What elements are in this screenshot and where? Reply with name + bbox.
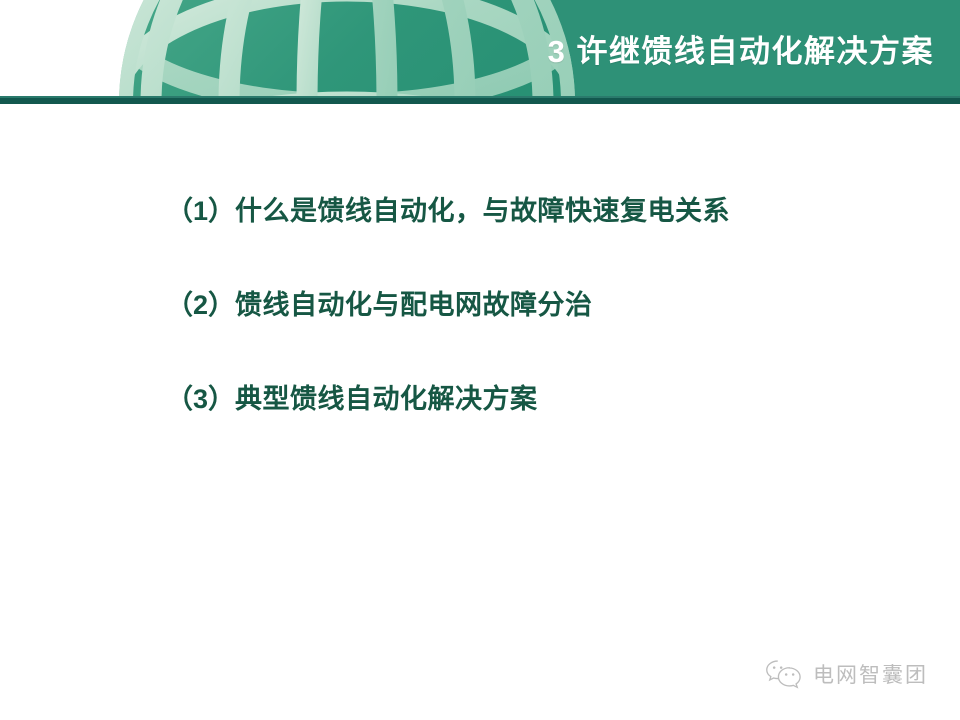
slide-header: 3 许继馈线自动化解决方案 <box>0 0 960 96</box>
agenda-item-label: 典型馈线自动化解决方案 <box>235 384 538 414</box>
agenda-item-label: 什么是馈线自动化，与故障快速复电关系 <box>235 196 730 226</box>
list-item: （2）馈线自动化与配电网故障分治 <box>166 290 926 321</box>
list-item: （1）什么是馈线自动化，与故障快速复电关系 <box>166 196 926 227</box>
wechat-icon <box>764 657 804 691</box>
globe-icon <box>112 0 582 96</box>
slide-title: 3 许继馈线自动化解决方案 <box>548 0 934 96</box>
agenda-item-number: （2） <box>166 290 235 320</box>
watermark: 电网智囊团 <box>764 657 928 691</box>
agenda-item-label: 馈线自动化与配电网故障分治 <box>235 290 593 320</box>
agenda-item-number: （1） <box>166 196 235 226</box>
agenda-item-number: （3） <box>166 384 235 414</box>
list-item: （3）典型馈线自动化解决方案 <box>166 384 926 415</box>
header-divider-highlight <box>0 96 960 98</box>
slide-canvas: 3 许继馈线自动化解决方案 （1）什么是馈线自动化，与故障快速复电关系 （2）馈… <box>0 0 960 720</box>
watermark-label: 电网智囊团 <box>813 659 928 689</box>
agenda-list: （1）什么是馈线自动化，与故障快速复电关系 （2）馈线自动化与配电网故障分治 （… <box>166 196 926 415</box>
